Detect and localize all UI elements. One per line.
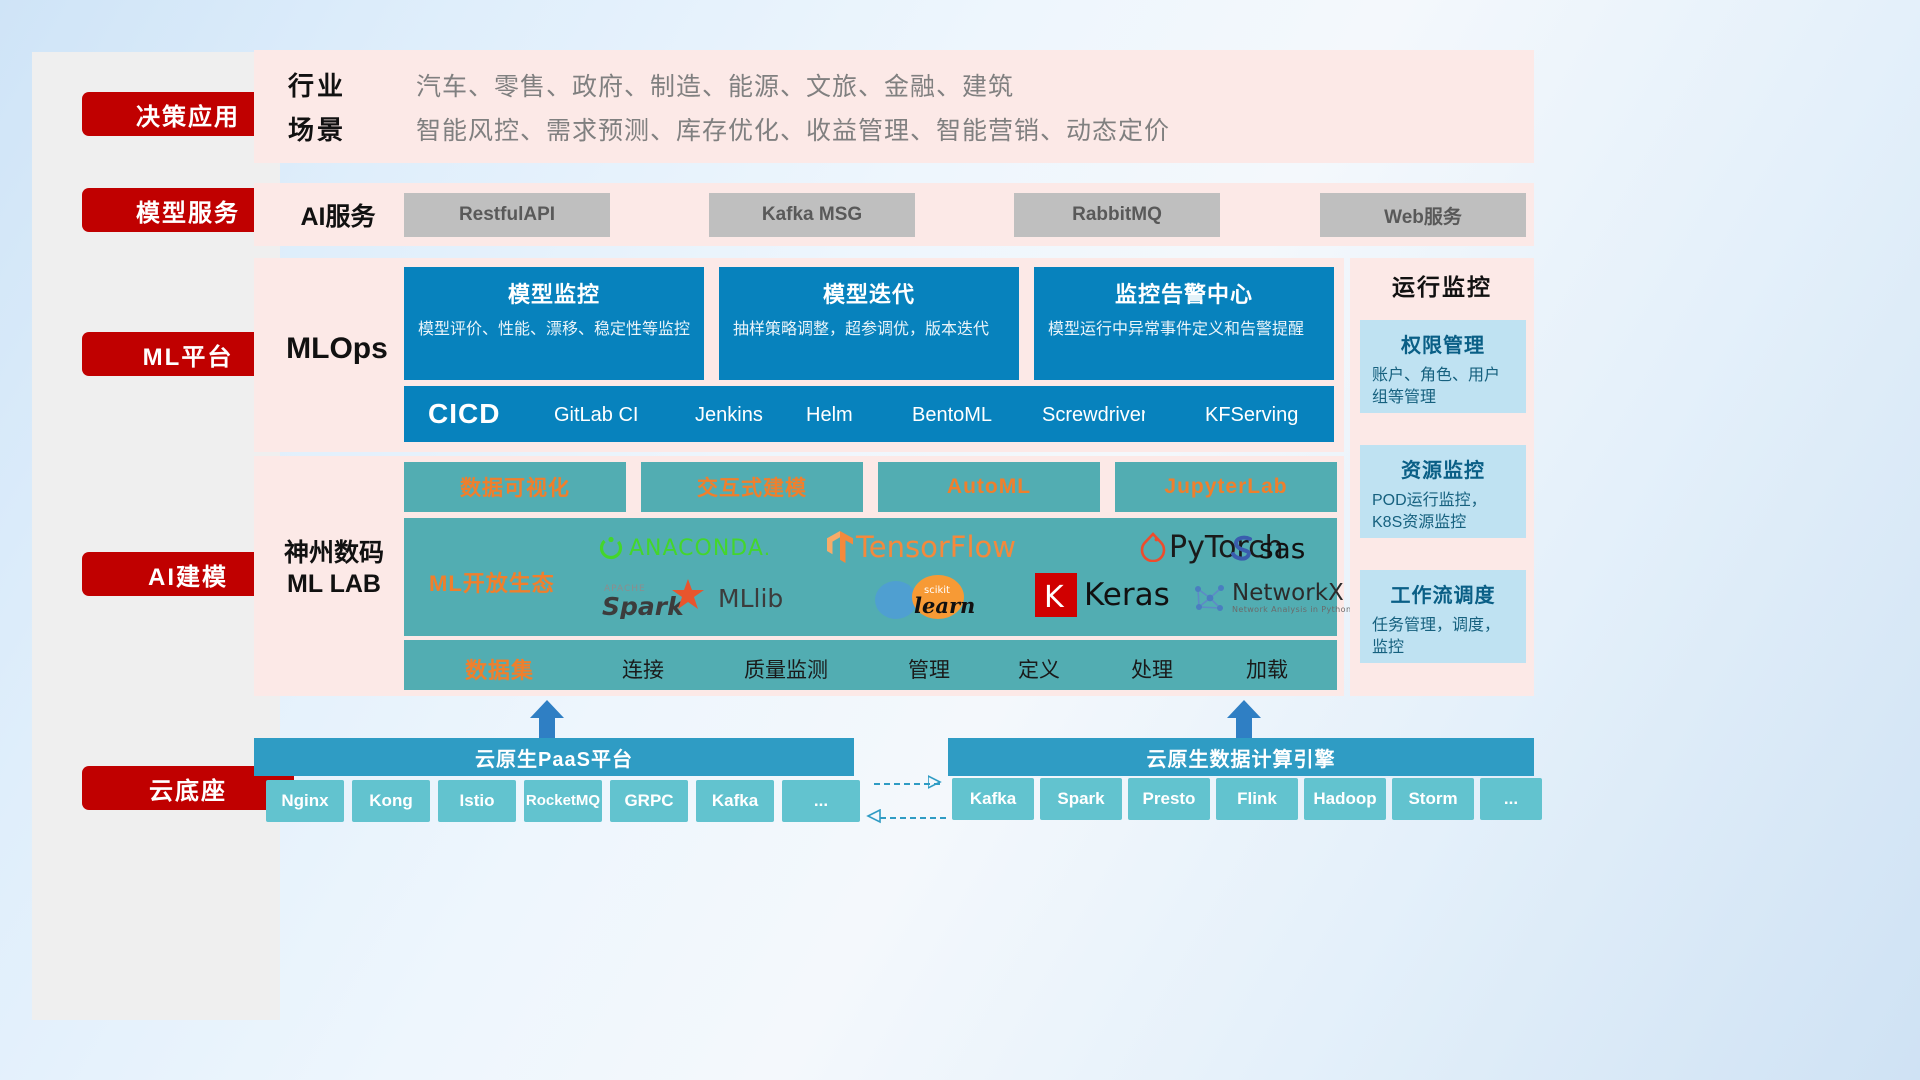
networkx-logo: NetworkX Network Analysis in Python: [1190, 578, 1351, 618]
tool-chip-data-viz[interactable]: 数据可视化: [404, 462, 626, 512]
dataset-item-define[interactable]: 定义: [1018, 654, 1060, 684]
tech-chip-rocketmq[interactable]: RocketMQ: [524, 780, 602, 822]
keras-logo: K Keras: [1035, 573, 1170, 617]
tech-chip-engine-storm[interactable]: Storm: [1392, 778, 1474, 820]
tool-chip-automl[interactable]: AutoML: [878, 462, 1100, 512]
card-title: 模型监控: [418, 277, 690, 309]
industry-key: 行业: [288, 66, 346, 103]
tech-chip-istio[interactable]: Istio: [438, 780, 516, 822]
svg-text:learn: learn: [914, 593, 975, 618]
tool-chip-interactive-model[interactable]: 交互式建模: [641, 462, 863, 512]
card-desc: 账户、角色、用户组等管理: [1372, 365, 1514, 410]
dataset-item-process[interactable]: 处理: [1131, 654, 1173, 684]
card-desc: 模型运行中异常事件定义和告警提醒: [1048, 318, 1320, 341]
scikit-learn-logo: scikit learn: [872, 576, 1002, 620]
monitor-card-workflow[interactable]: 工作流调度 任务管理，调度，监控: [1360, 570, 1526, 663]
mlops-card-model-monitoring[interactable]: 模型监控 模型评价、性能、漂移、稳定性等监控: [404, 267, 704, 380]
monitor-title: 运行监控: [1350, 268, 1534, 302]
scenario-value: 智能风控、需求预测、库存优化、收益管理、智能营销、动态定价: [416, 111, 1170, 147]
tech-chip-grpc[interactable]: GRPC: [610, 780, 688, 822]
mlops-label: MLOps: [272, 330, 402, 368]
card-title: 工作流调度: [1372, 579, 1514, 608]
ai-service-label: AI服务: [274, 202, 402, 233]
tech-chip-kafka[interactable]: Kafka: [696, 780, 774, 822]
industry-value: 汽车、零售、政府、制造、能源、文旅、金融、建筑: [416, 67, 1014, 103]
card-title: 权限管理: [1372, 329, 1514, 358]
tech-chip-engine-flink[interactable]: Flink: [1216, 778, 1298, 820]
mllab-label: 神州数码 ML LAB: [264, 538, 404, 601]
card-title: 监控告警中心: [1048, 277, 1320, 309]
dataset-tag: 数据集: [465, 653, 534, 685]
architecture-diagram: 决策应用 模型服务 ML平台 AI建模 云底座 行业 汽车、零售、政府、制造、能…: [0, 0, 1920, 1080]
keras-icon: K: [1035, 573, 1077, 617]
cicd-item-kfserving[interactable]: KFServing: [1205, 403, 1298, 428]
pytorch-icon: [1140, 532, 1166, 562]
tech-chip-engine-hadoop[interactable]: Hadoop: [1304, 778, 1386, 820]
data-engine-bar[interactable]: 云原生数据计算引擎: [948, 738, 1534, 776]
monitor-card-resource[interactable]: 资源监控 POD运行监控，K8S资源监控: [1360, 445, 1526, 538]
cicd-item-helm[interactable]: Helm: [806, 403, 886, 428]
tech-chip-engine-more[interactable]: ...: [1480, 778, 1542, 820]
dataset-item-quality[interactable]: 质量监测: [744, 654, 828, 684]
card-desc: 模型评价、性能、漂移、稳定性等监控: [418, 318, 690, 341]
service-chip-web-service[interactable]: Web服务: [1320, 193, 1526, 237]
spark-icon: APACHE Spark: [602, 577, 714, 619]
tool-chip-jupyterlab[interactable]: JupyterLab: [1115, 462, 1337, 512]
dashed-arrow-left-icon: [866, 809, 882, 825]
dataset-item-load[interactable]: 加载: [1246, 654, 1288, 684]
card-desc: 任务管理，调度，监控: [1372, 615, 1514, 660]
stage-rail: 决策应用 模型服务 ML平台 AI建模 云底座: [32, 52, 280, 1020]
mlops-card-alert-center[interactable]: 监控告警中心 模型运行中异常事件定义和告警提醒: [1034, 267, 1334, 380]
service-chip-kafka-msg[interactable]: Kafka MSG: [709, 193, 915, 237]
cicd-item-bentoml[interactable]: BentoML: [912, 403, 998, 428]
anaconda-logo: ANACONDA .: [598, 534, 770, 562]
paas-platform-bar[interactable]: 云原生PaaS平台: [254, 738, 854, 776]
mllab-label-line1: 神州数码: [264, 538, 404, 569]
dashed-arrow-right-icon: [928, 775, 944, 791]
dataset-item-manage[interactable]: 管理: [908, 654, 950, 684]
sas-icon: [1228, 534, 1258, 562]
card-desc: POD运行监控，K8S资源监控: [1372, 490, 1514, 535]
anaconda-icon: [598, 535, 624, 561]
service-chip-restfulapi[interactable]: RestfulAPI: [404, 193, 610, 237]
monitor-card-permission[interactable]: 权限管理 账户、角色、用户组等管理: [1360, 320, 1526, 413]
ecosystem-tag: ML开放生态: [429, 566, 555, 598]
sas-logo: sas: [1228, 533, 1305, 563]
dashed-connector-left: [880, 817, 946, 819]
cicd-item-gitlab-ci[interactable]: GitLab CI: [554, 403, 659, 428]
dataset-panel: [404, 640, 1337, 690]
scenario-key: 场景: [288, 110, 346, 147]
spark-mllib-logo: APACHE Spark MLlib: [602, 578, 783, 618]
networkx-icon: [1190, 579, 1228, 617]
tech-chip-engine-presto[interactable]: Presto: [1128, 778, 1210, 820]
svg-text:K: K: [1044, 580, 1065, 615]
svg-text:Spark: Spark: [602, 592, 685, 619]
scikit-learn-icon: scikit learn: [872, 575, 1002, 621]
service-chip-rabbitmq[interactable]: RabbitMQ: [1014, 193, 1220, 237]
tech-chip-nginx[interactable]: Nginx: [266, 780, 344, 822]
tech-chip-paas-more[interactable]: ...: [782, 780, 860, 822]
mllab-label-line2: ML LAB: [264, 569, 404, 600]
tech-chip-engine-spark[interactable]: Spark: [1040, 778, 1122, 820]
mlops-card-model-iteration[interactable]: 模型迭代 抽样策略调整，超参调优，版本迭代: [719, 267, 1019, 380]
cicd-title: CICD: [428, 398, 500, 430]
cicd-item-screwdriver[interactable]: Screwdriver: [1042, 403, 1145, 428]
card-desc: 抽样策略调整，超参调优，版本迭代: [733, 318, 1005, 341]
tech-chip-kong[interactable]: Kong: [352, 780, 430, 822]
cicd-bar: CICD GitLab CI Jenkins Helm BentoML Scre…: [404, 386, 1334, 442]
tech-chip-engine-kafka[interactable]: Kafka: [952, 778, 1034, 820]
dataset-item-connect[interactable]: 连接: [622, 654, 664, 684]
card-title: 模型迭代: [733, 277, 1005, 309]
tensorflow-logo: TensorFlow: [827, 531, 1016, 563]
card-title: 资源监控: [1372, 454, 1514, 483]
cicd-item-jenkins[interactable]: Jenkins: [695, 403, 763, 428]
tensorflow-icon: [827, 531, 853, 563]
